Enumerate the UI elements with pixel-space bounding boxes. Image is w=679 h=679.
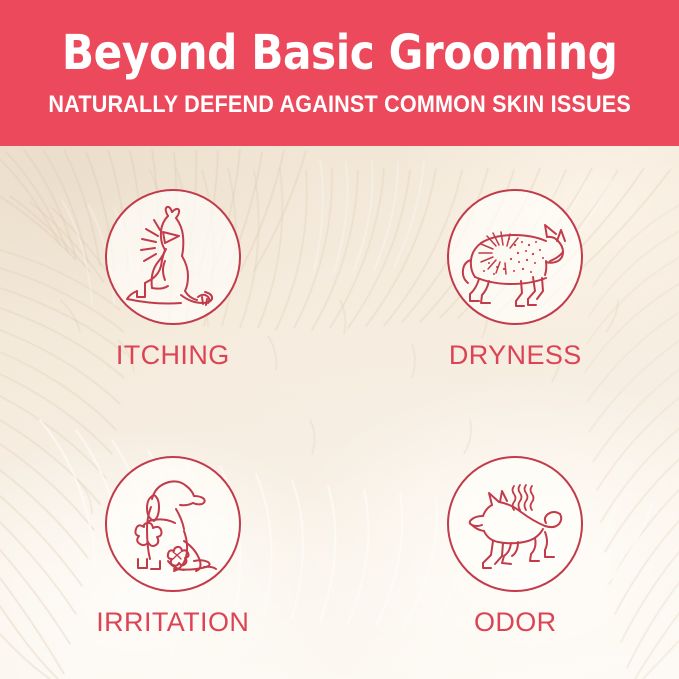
feature-label-irritation: IRRITATION	[96, 609, 249, 636]
feature-item-odor: ODOR	[340, 413, 679, 679]
feature-label-odor: ODOR	[474, 609, 557, 636]
badge-circle-dryness	[447, 189, 583, 325]
feature-grid: ITCHING	[0, 146, 679, 679]
header-banner: Beyond Basic Grooming NATURALLY DEFEND A…	[0, 0, 679, 146]
dog-dandruff-icon	[459, 201, 571, 313]
badge-circle-odor	[447, 456, 583, 592]
dog-irritated-skin-icon	[118, 469, 228, 579]
page-subtitle: NATURALLY DEFEND AGAINST COMMON SKIN ISS…	[48, 93, 631, 117]
feature-item-irritation: IRRITATION	[0, 413, 340, 679]
poster: Beyond Basic Grooming NATURALLY DEFEND A…	[0, 0, 679, 679]
dog-odor-icon	[459, 468, 571, 580]
feature-item-dryness: DRYNESS	[340, 146, 679, 413]
feature-label-itching: ITCHING	[116, 342, 230, 369]
badge-circle-irritation	[105, 456, 241, 592]
feature-label-dryness: DRYNESS	[449, 342, 582, 369]
badge-circle-itching	[105, 189, 241, 325]
feature-item-itching: ITCHING	[0, 146, 340, 413]
page-title: Beyond Basic Grooming	[53, 29, 626, 77]
dog-scratching-icon	[118, 202, 228, 312]
